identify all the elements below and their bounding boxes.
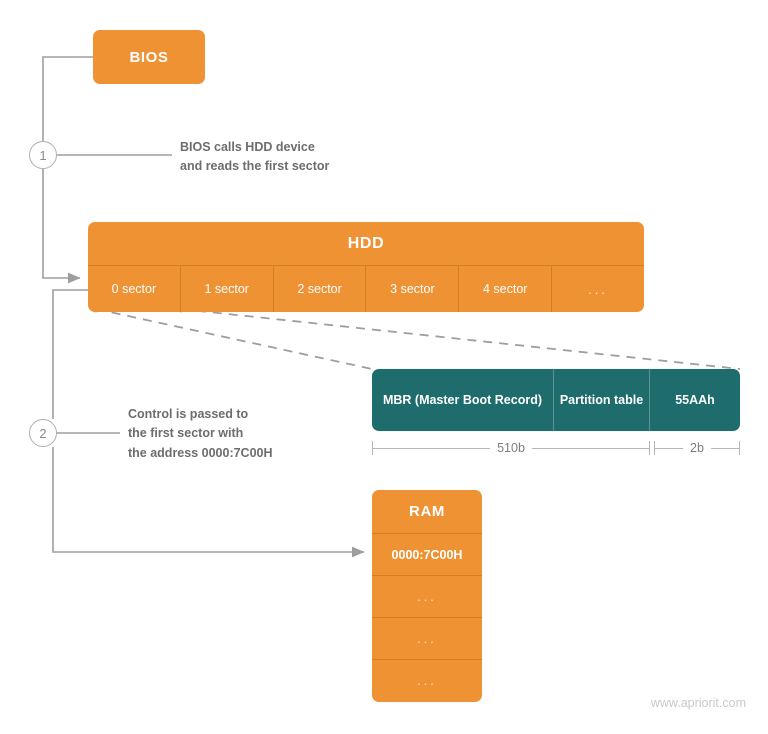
measure-label: 2b (683, 437, 711, 459)
boot-process-diagram: BIOS HDD 0 sector 1 sector 2 sector 3 se… (0, 0, 768, 734)
ram-title: RAM (372, 490, 482, 534)
zoom-callout-dashed-lines (92, 304, 740, 369)
measure-tick-left (654, 441, 655, 455)
step-marker-1: 1 (29, 141, 57, 169)
partition-table-segment: Partition table (554, 369, 650, 431)
ram-row-ellipsis: ... (372, 576, 482, 618)
wire-bios-to-hdd (43, 57, 93, 278)
first-sector-layout-block: MBR (Master Boot Record) Partition table… (372, 369, 740, 431)
hdd-sector-cell: 3 sector (366, 266, 459, 312)
step-caption-1: BIOS calls HDD device and reads the firs… (180, 138, 410, 177)
hdd-sector-cell: 2 sector (274, 266, 367, 312)
measure-tick-right (649, 441, 650, 455)
ram-row-address: 0000:7C00H (372, 534, 482, 576)
boot-signature-segment: 55AAh (650, 369, 740, 431)
hdd-sector-list: 0 sector 1 sector 2 sector 3 sector 4 se… (88, 266, 644, 312)
hdd-sector-cell: 4 sector (459, 266, 552, 312)
measure-510b: 510b (372, 437, 650, 459)
ram-row-list: 0000:7C00H ... ... ... (372, 534, 482, 702)
hdd-block: HDD 0 sector 1 sector 2 sector 3 sector … (88, 222, 644, 312)
bios-label: BIOS (93, 30, 205, 84)
step-marker-2: 2 (29, 419, 57, 447)
hdd-sector-cell: 0 sector (88, 266, 181, 312)
measure-tick-left (372, 441, 373, 455)
step-caption-2: Control is passed to the first sector wi… (128, 405, 358, 463)
bios-block: BIOS (93, 30, 205, 84)
mbr-segment: MBR (Master Boot Record) (372, 369, 554, 431)
ram-block: RAM 0000:7C00H ... ... ... (372, 490, 482, 702)
measure-label: 510b (490, 437, 532, 459)
hdd-title: HDD (88, 222, 644, 266)
ram-row-ellipsis: ... (372, 660, 482, 702)
ram-row-ellipsis: ... (372, 618, 482, 660)
hdd-sector-cell-ellipsis: ... (552, 266, 644, 312)
measure-tick-right (739, 441, 740, 455)
hdd-sector-cell: 1 sector (181, 266, 274, 312)
measure-2b: 2b (654, 437, 740, 459)
watermark: www.apriorit.com (651, 696, 746, 710)
